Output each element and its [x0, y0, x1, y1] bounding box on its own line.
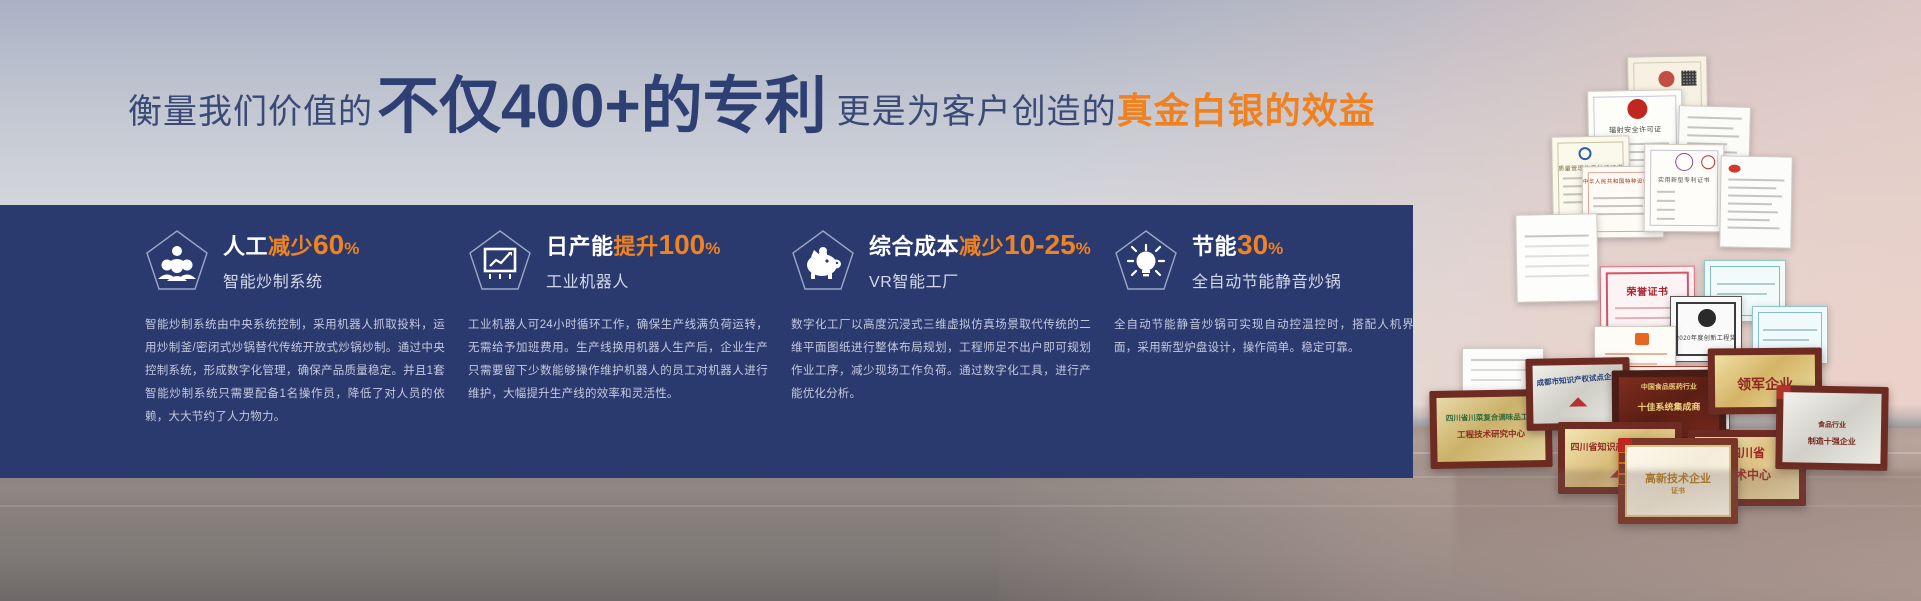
certificate-and-award-collage: 营业执照 辐射安全许可证: [1430, 48, 1921, 518]
feature-title-unit: %: [344, 239, 360, 258]
feature-body: 全自动节能静音炒锅可实现自动控温控时，搭配人机界面，采用新型炉盘设计，操作简单。…: [1114, 314, 1414, 360]
feature-subtitle: 智能炒制系统: [223, 268, 360, 292]
certificate-label: 2020年度创新工程奖: [1671, 333, 1741, 342]
plaque-reflection: [1455, 470, 1921, 580]
features-panel: 人工减少60% 智能炒制系统 智能炒制系统由中央系统控制，采用机器人抓取投料，运…: [0, 205, 1413, 478]
feature-title-number: 30: [1237, 229, 1268, 260]
certificate: 实用新型专利证书: [1644, 144, 1725, 233]
feature-item: 人工减少60% 智能炒制系统 智能炒制系统由中央系统控制，采用机器人抓取投料，运…: [145, 205, 475, 478]
lightbulb-icon: [1114, 229, 1178, 291]
headline-accent: 真金白银的效益: [1117, 82, 1376, 134]
certificate: [1719, 155, 1793, 248]
plaque-label: 制造十强企业: [1776, 435, 1888, 448]
headline-middle: 更是为客户创造的: [837, 84, 1117, 133]
award-plaque: 食品行业 制造十强企业: [1775, 385, 1888, 471]
people-group-icon: [145, 229, 209, 291]
feature-title-prefix: 综合成本: [869, 234, 959, 259]
feature-item: 综合成本减少10-25% VR智能工厂 数字化工厂以高度沉浸式三维虚拟仿真场景取…: [791, 205, 1121, 478]
feature-title-prefix: 人工: [223, 234, 268, 259]
feature-title-number: 10-25: [1004, 229, 1076, 260]
feature-title: 综合成本减少10-25%: [869, 229, 1091, 261]
headline-prefix: 衡量我们价值的: [128, 84, 373, 133]
feature-title-number: 100: [659, 229, 706, 260]
feature-title: 人工减少60%: [223, 229, 360, 261]
feature-body: 数字化工厂以高度沉浸式三维虚拟仿真场景取代传统的二维平面图纸进行整体布局规划，工…: [791, 314, 1091, 406]
feature-body: 智能炒制系统由中央系统控制，采用机器人抓取投料，运用炒制釜/密闭式炒锅替代传统开…: [145, 314, 445, 429]
page-title: 衡量我们价值的 不仅400+的专利 更是为客户创造的 真金白银的效益: [128, 72, 1388, 134]
plaque-label: 食品行业: [1776, 419, 1888, 431]
feature-title-emphasis: 提升: [614, 234, 659, 259]
feature-subtitle: VR智能工厂: [869, 268, 1091, 292]
certificate-label: 实用新型专利证书: [1645, 175, 1723, 185]
feature-subtitle: 工业机器人: [546, 268, 721, 292]
feature-title-emphasis: 减少: [268, 234, 313, 259]
certificate: [1515, 213, 1599, 302]
piggy-bank-icon: [791, 229, 855, 291]
feature-subtitle: 全自动节能静音炒锅: [1192, 268, 1341, 292]
feature-title-prefix: 日产能: [546, 234, 614, 259]
feature-title-number: 60: [313, 229, 344, 260]
feature-title: 节能30%: [1192, 229, 1341, 261]
certificate-label: 辐射安全许可证: [1589, 124, 1682, 136]
headline-highlight: 不仅400+的专利: [377, 76, 827, 138]
chart-board-icon: [468, 229, 532, 291]
feature-title-unit: %: [1076, 239, 1092, 258]
feature-item: 日产能提升100% 工业机器人 工业机器人可24小时循环工作，确保生产线满负荷运…: [468, 205, 798, 478]
banner-stage: 衡量我们价值的 不仅400+的专利 更是为客户创造的 真金白银的效益: [0, 0, 1921, 601]
feature-body: 工业机器人可24小时循环工作，确保生产线满负荷运转，无需给予加班费用。生产线换用…: [468, 314, 768, 406]
feature-title-emphasis: 减少: [959, 234, 1004, 259]
feature-title-unit: %: [705, 239, 721, 258]
feature-item: 节能30% 全自动节能静音炒锅 全自动节能静音炒锅可实现自动控温控时，搭配人机界…: [1114, 205, 1444, 478]
feature-title: 日产能提升100%: [546, 229, 721, 261]
feature-title-unit: %: [1268, 239, 1284, 258]
feature-title-prefix: 节能: [1192, 234, 1237, 259]
